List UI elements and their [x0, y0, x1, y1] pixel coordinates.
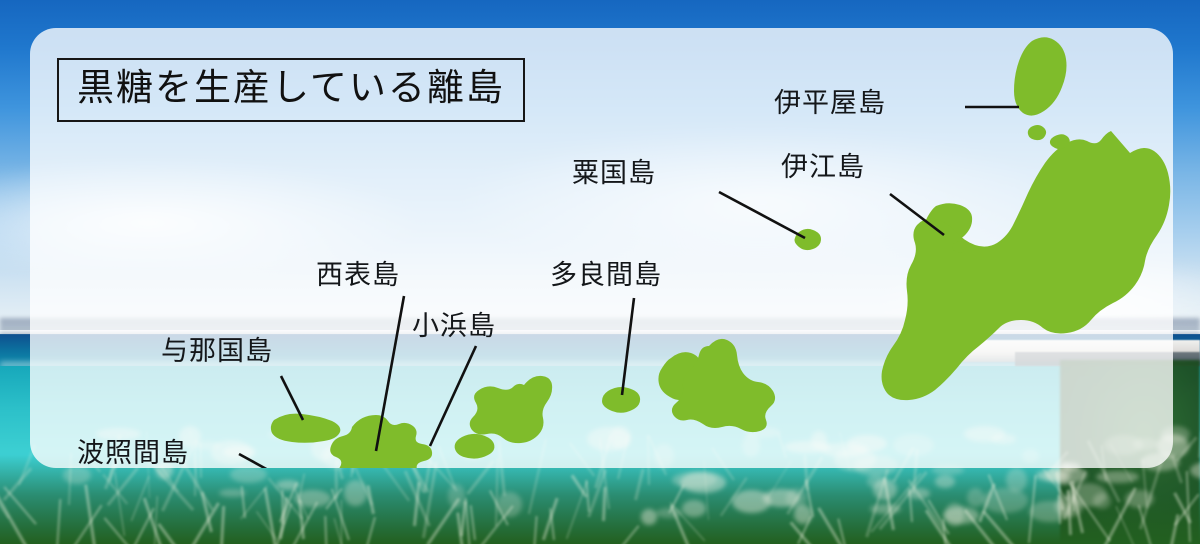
grass-plume	[1096, 471, 1139, 484]
map-panel: 黒糖を生産している離島 与那国島波照間島西表島小浜島多良間島粟国島伊江島伊平屋島	[30, 28, 1173, 468]
island-label-iriomote: 西表島	[316, 260, 400, 290]
map-panel-content: 黒糖を生産している離島 与那国島波照間島西表島小浜島多良間島粟国島伊江島伊平屋島	[30, 28, 1173, 468]
grass-plume	[448, 484, 465, 508]
island-label-kohama: 小浜島	[412, 311, 496, 341]
grass-plume	[763, 489, 800, 507]
kohama-island	[455, 434, 495, 459]
leader-line-kohama-leader	[430, 346, 476, 446]
grass-plume	[656, 508, 681, 518]
grass-plume	[680, 472, 726, 493]
leader-line-tarama-leader	[622, 298, 634, 395]
island-label-aguni: 粟国島	[572, 158, 656, 188]
leader-line-aguni-leader	[719, 192, 805, 238]
grass-plume	[870, 504, 901, 514]
grass-plume	[982, 488, 1027, 513]
map-title-box: 黒糖を生産している離島	[57, 58, 525, 122]
island-label-yonaguni: 与那国島	[161, 336, 273, 366]
grass-plume	[682, 500, 706, 516]
island-label-hateruma: 波照間島	[77, 438, 189, 468]
grass-plume	[497, 492, 522, 516]
grass-plume	[907, 488, 930, 499]
grass-plume	[1125, 490, 1154, 508]
yonaguni-island	[271, 414, 340, 443]
okinawa-main	[882, 131, 1171, 400]
island-label-tarama: 多良間島	[550, 260, 662, 290]
grass-plume	[230, 466, 267, 483]
leader-line-yonaguni-leader	[281, 376, 303, 420]
infographic-root: 黒糖を生産している離島 与那国島波照間島西表島小浜島多良間島粟国島伊江島伊平屋島	[0, 0, 1200, 544]
island-label-iheya: 伊平屋島	[774, 88, 886, 118]
iheya-satellite-a	[1028, 125, 1046, 140]
leader-line-hateruma-leader	[239, 454, 330, 468]
tarama-island	[602, 387, 640, 413]
grass-plume	[344, 480, 367, 506]
island-label-ie: 伊江島	[781, 152, 865, 182]
ishigaki-island	[470, 376, 552, 443]
aguni-island	[795, 229, 822, 250]
grass-plume	[1006, 468, 1026, 492]
grass-plume	[945, 503, 964, 525]
iheya-island	[1014, 37, 1067, 115]
map-title-text: 黒糖を生産している離島	[77, 66, 505, 110]
